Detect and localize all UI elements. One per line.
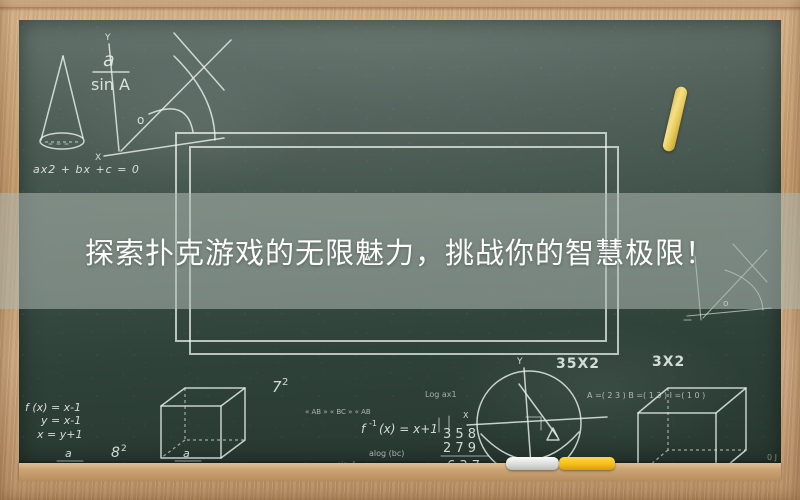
cube-drawing-center [161, 388, 245, 458]
label-35x2: 35X2 [556, 356, 600, 372]
cube-drawing-right [638, 388, 746, 463]
svg-text:a: a [65, 447, 72, 460]
yellow-chalk-stick-top[interactable] [662, 85, 689, 152]
function-equations-center: f (x) = x-1 y = x-1 x = y+1 [25, 401, 82, 441]
svg-text:2: 2 [282, 377, 288, 388]
matrix-row: A =( 2 3 ) B =( 1 3 ) I =( 1 0 ) [587, 391, 705, 400]
svg-text:Y: Y [104, 33, 111, 43]
svg-text:(x) = x+1: (x) = x+1 [379, 422, 438, 436]
log-note: alog (bc) [369, 449, 404, 458]
svg-text:0 J: 0 J [767, 453, 777, 462]
svg-text:f: f [361, 422, 367, 436]
caption-text: 探索扑克游戏的无限魅力，挑战你的智慧极限！ [85, 230, 715, 272]
frame-top-highlight [0, 0, 800, 7]
svg-text:a: a [103, 49, 115, 71]
frame-top-bevel [0, 7, 800, 11]
circle-axes-diagram: Y X [463, 357, 607, 463]
svg-text:x = y+1: x = y+1 [36, 428, 82, 441]
inverse-function: f -1 (x) = x+1 [361, 419, 438, 436]
svg-text:sin A: sin A [91, 75, 130, 94]
seven-squared: 7 2 [272, 377, 288, 396]
poster-canvas: .ck{fill:none;stroke:#e9f0ec;stroke-opac… [0, 0, 800, 500]
fraction-a-over-sinA-center: a sin A [173, 447, 201, 463]
caption-band: 探索扑克游戏的无限魅力，挑战你的智慧极限！ [0, 193, 800, 309]
svg-text:X: X [463, 411, 469, 420]
cone-drawing [40, 56, 84, 149]
svg-text:3 5 8: 3 5 8 [443, 427, 476, 442]
chalk-ledge [19, 463, 781, 481]
svg-text:-1: -1 [369, 419, 377, 428]
svg-text:f (x) = x-1: f (x) = x-1 [25, 401, 81, 414]
fraction-a-over-sinA-bottom-left: a sin A [55, 447, 83, 463]
svg-text:Y: Y [516, 357, 523, 367]
eight-squared: 8 2 [111, 444, 127, 461]
svg-text:X: X [95, 153, 101, 163]
quadratic-equation: ax2 + bx +c = 0 [33, 163, 140, 176]
svg-text:a: a [183, 447, 190, 460]
white-eraser[interactable] [506, 457, 559, 470]
geometry-note: « AB » « BC » « AB [305, 408, 371, 416]
fraction-a-over-sinA-left: a sin A [91, 49, 130, 94]
svg-text:y = x-1: y = x-1 [40, 414, 81, 427]
svg-text:2: 2 [121, 444, 127, 454]
yellow-chalk-stick-ledge[interactable] [559, 457, 615, 470]
long-division-column: 3 5 8 2 7 9 6 3 7 [439, 416, 489, 463]
svg-text:8: 8 [111, 445, 120, 461]
svg-text:7: 7 [272, 378, 282, 396]
svg-text:2 7 9: 2 7 9 [443, 441, 476, 456]
label-3x2: 3X2 [652, 354, 685, 370]
svg-text:o: o [137, 113, 144, 127]
log-label: Log ax1 [425, 390, 457, 399]
